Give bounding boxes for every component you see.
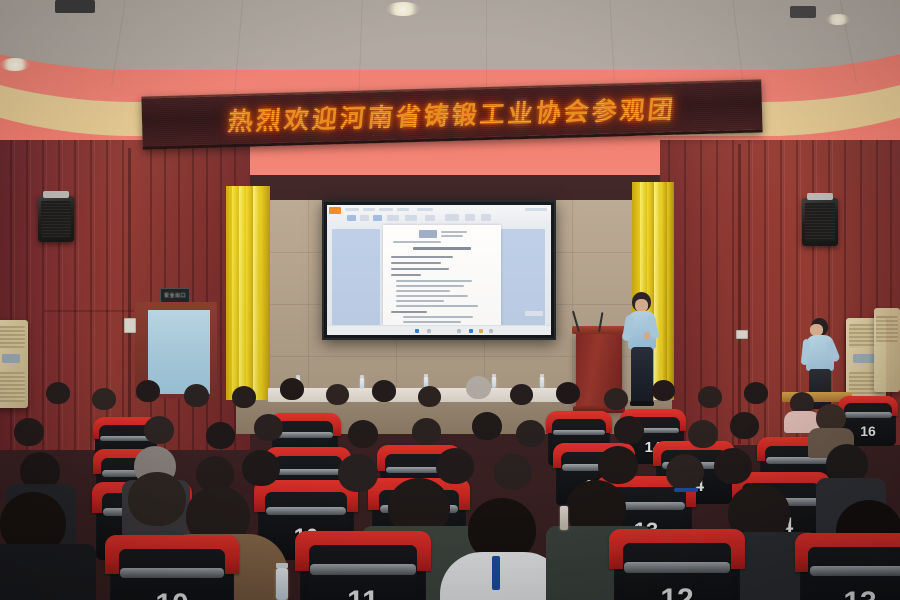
wall-plate-right	[736, 330, 748, 339]
ceiling-speaker-box	[790, 6, 816, 18]
wall-plate-left	[124, 318, 136, 333]
projection-screen	[322, 200, 556, 340]
led-welcome-banner: 热烈欢迎河南省铸锻工业协会参观团	[142, 88, 762, 150]
led-banner-text: 热烈欢迎河南省铸锻工业协会参观团	[226, 90, 677, 139]
exit-sign-label: 安全出口	[164, 292, 186, 299]
seat-number: 11	[300, 585, 426, 600]
water-bottle	[360, 378, 364, 389]
downlight-icon	[386, 2, 420, 16]
floating-toolbar-chip[interactable]	[525, 311, 543, 316]
auditorium-photo: 安全出口 热烈欢迎河南省铸锻工业协会参观团	[0, 0, 900, 600]
door-glass-left[interactable]	[148, 310, 210, 394]
wall-speaker-right	[802, 198, 838, 246]
presenter-shoes	[630, 401, 654, 406]
seat-metal-bar	[310, 564, 416, 574]
air-conditioner-left	[0, 320, 28, 408]
seat-metal-bar	[266, 507, 347, 515]
seat-metal-bar	[624, 562, 730, 572]
auditorium-seat[interactable]: 13	[800, 538, 900, 600]
left-wood-wall	[0, 140, 250, 450]
stage-curtain-left	[226, 186, 270, 400]
water-bottle	[540, 377, 544, 388]
presenter-hand-with-mic	[644, 332, 650, 340]
seat-number: 10	[110, 588, 234, 600]
document-workspace[interactable]	[327, 225, 551, 326]
downlight-icon	[826, 14, 850, 25]
seat-metal-bar	[274, 469, 341, 476]
auditorium-seat[interactable]: 10	[110, 540, 234, 600]
app-logo-icon	[329, 207, 341, 214]
seat-metal-bar	[277, 432, 332, 438]
water-bottle	[492, 377, 496, 388]
document-page[interactable]	[383, 225, 501, 326]
presenter-trousers	[631, 347, 653, 403]
document-status-bar	[327, 325, 551, 335]
exit-sign: 安全出口	[160, 288, 190, 303]
downlight-icon	[0, 58, 30, 71]
seat-metal-bar	[553, 430, 605, 436]
document-app-ribbon[interactable]	[327, 205, 551, 226]
seat-metal-bar	[766, 457, 828, 463]
ceiling-projector	[55, 0, 95, 13]
seat-metal-bar	[810, 566, 900, 576]
left-navigation-pane[interactable]	[332, 229, 380, 325]
wall-speaker-left	[38, 196, 74, 242]
seat-number: 13	[800, 586, 900, 600]
seat-metal-bar	[120, 568, 224, 578]
air-conditioner-far-right	[874, 308, 900, 392]
seat-metal-bar	[100, 436, 152, 442]
auditorium-seat[interactable]: 11	[300, 536, 426, 600]
auditorium-seat[interactable]: 12	[614, 534, 740, 600]
seat-number: 12	[614, 583, 740, 600]
seat-metal-bar	[844, 412, 891, 417]
water-bottle-foreground	[560, 506, 568, 530]
water-bottle-foreground	[276, 568, 288, 600]
